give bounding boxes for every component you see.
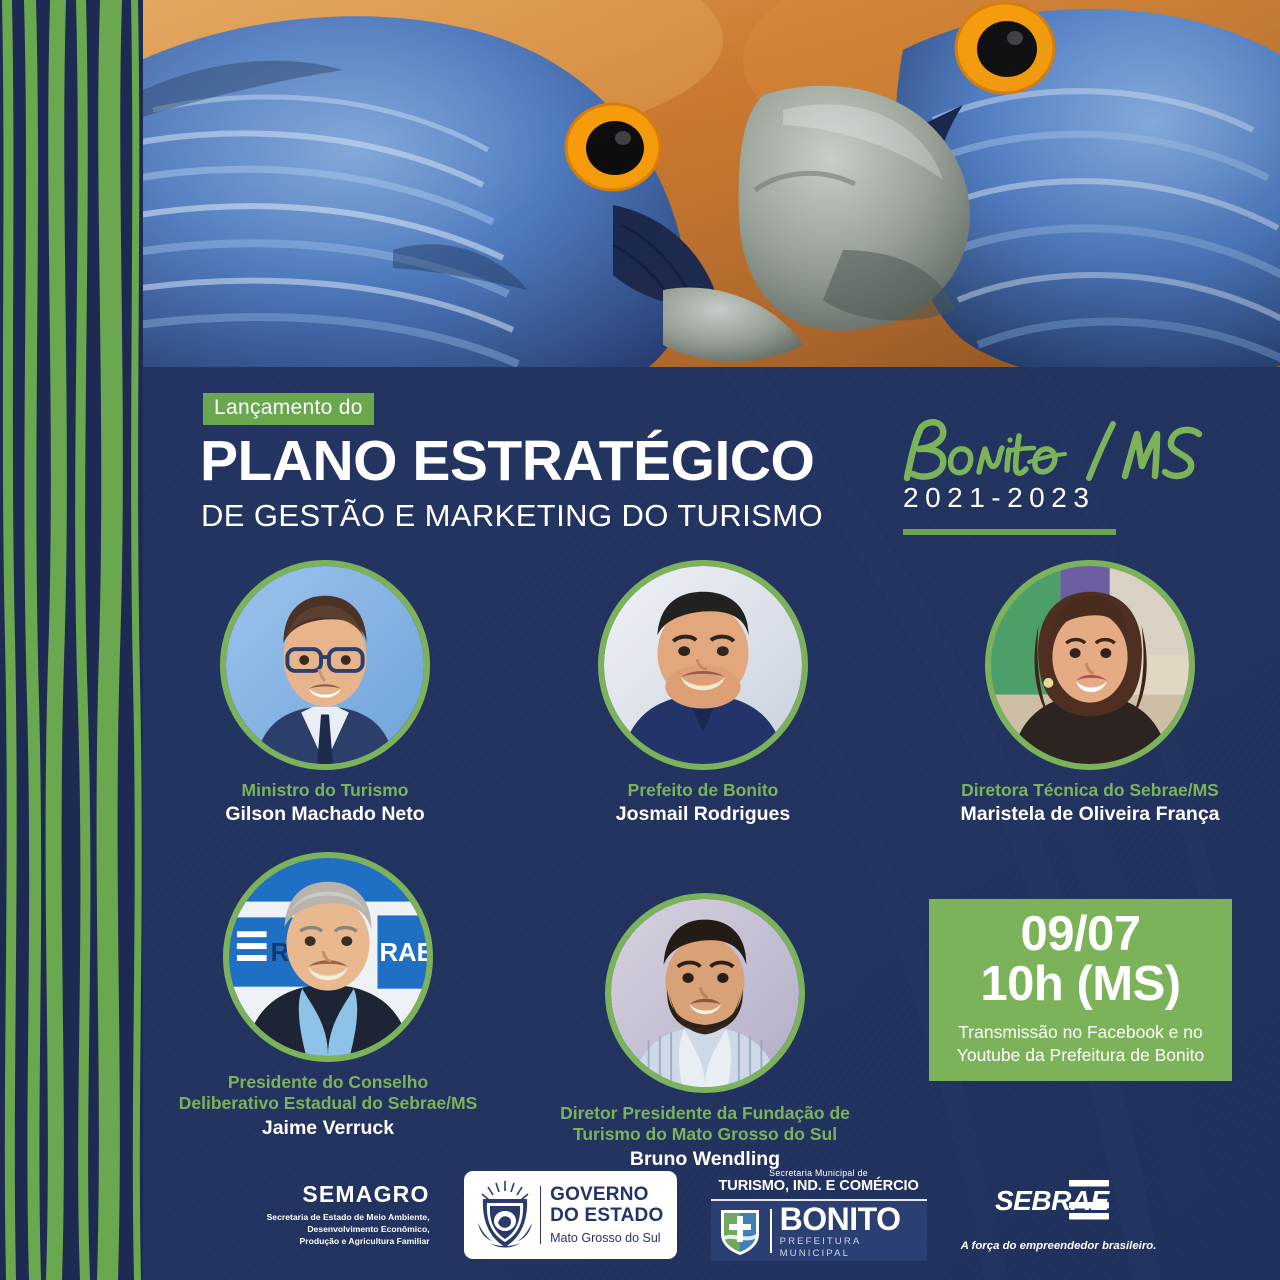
event-time: 10h (MS) [980, 959, 1180, 1010]
logo-governo-do-estado: GOVERNO DO ESTADO Mato Grosso do Sul [464, 1171, 677, 1259]
governo-line2: DO ESTADO [550, 1205, 663, 1226]
decorative-stripe-band [0, 0, 143, 1280]
avatar: RAE RAE [223, 852, 433, 1062]
brand-years: 2021-2023 [903, 482, 1095, 514]
semagro-tagline: Secretaria de Estado de Meio Ambiente, D… [267, 1211, 430, 1248]
ms-coat-of-arms-icon [474, 1179, 536, 1251]
speaker-name: Gilson Machado Neto [180, 802, 470, 826]
bonito-coat-of-arms-icon [718, 1206, 762, 1256]
sebrae-tagline: A força do empreendedor brasileiro. [961, 1240, 1157, 1252]
bonito-name: BONITO [780, 1204, 920, 1235]
avatar [598, 560, 808, 770]
speaker-name: Josmail Rodrigues [558, 802, 848, 826]
speaker-card: Prefeito de Bonito Josmail Rodrigues [558, 560, 848, 827]
speaker-name: Jaime Verruck [148, 1116, 508, 1140]
bonito-secretaria-line: Secretaria Municipal de [711, 1169, 927, 1179]
semagro-name: SEMAGRO [267, 1183, 430, 1206]
governo-line1: GOVERNO [550, 1184, 663, 1205]
brand-underline [903, 529, 1116, 535]
brand-script-bonito-ms [893, 418, 1213, 490]
svg-text:SEBRAE: SEBRAE [995, 1185, 1111, 1216]
avatar [220, 560, 430, 770]
sebrae-wordmark-icon: SEBRAE [993, 1178, 1125, 1236]
logo-sebrae: SEBRAE A força do empreendedor brasileir… [961, 1178, 1157, 1252]
sponsor-logos: SEMAGRO Secretaria de Estado de Meio Amb… [143, 1150, 1280, 1280]
page-subtitle: DE GESTÃO E MARKETING DO TURISMO [201, 500, 823, 533]
speaker-role: Prefeito de Bonito [558, 780, 848, 801]
event-poster: Lançamento do PLANO ESTRATÉGICO DE GESTÃ… [0, 0, 1280, 1280]
speaker-role: Diretor Presidente da Fundação de Turism… [530, 1103, 880, 1146]
svg-text:RAE: RAE [379, 939, 427, 967]
logo-semagro: SEMAGRO Secretaria de Estado de Meio Amb… [267, 1183, 430, 1248]
avatar [985, 560, 1195, 770]
governo-line3: Mato Grosso do Sul [550, 1230, 663, 1246]
speaker-role: Ministro do Turismo [180, 780, 470, 801]
broadcast-note: Transmissão no Facebook e no Youtube da … [957, 1021, 1204, 1067]
speaker-card: Ministro do Turismo Gilson Machado Neto [180, 560, 470, 827]
speaker-role: Diretora Técnica do Sebrae/MS [940, 780, 1240, 801]
speaker-role: Presidente do Conselho Deliberativo Esta… [148, 1072, 508, 1115]
speaker-card: Diretora Técnica do Sebrae/MS Maristela … [940, 560, 1240, 827]
bonito-department-line: TURISMO, IND. E COMÉRCIO [711, 1178, 927, 1195]
speaker-name: Maristela de Oliveira França [940, 802, 1240, 826]
hero-photo-hyacinth-macaws [143, 0, 1280, 367]
event-date-card: 09/07 10h (MS) Transmissão no Facebook e… [929, 899, 1232, 1081]
launch-badge: Lançamento do [203, 393, 374, 425]
event-date: 09/07 [1020, 910, 1140, 959]
logo-prefeitura-bonito: Secretaria Municipal de TURISMO, IND. E … [711, 1169, 927, 1262]
speaker-card: RAE RAE Presidente do [148, 852, 508, 1140]
avatar [605, 893, 805, 1093]
logo-divider [770, 1209, 772, 1253]
page-title: PLANO ESTRATÉGICO [200, 432, 814, 492]
logo-divider [540, 1186, 542, 1244]
bonito-subtitle: PREFEITURA MUNICIPAL [780, 1236, 920, 1259]
speaker-card: Diretor Presidente da Fundação de Turism… [530, 893, 880, 1171]
